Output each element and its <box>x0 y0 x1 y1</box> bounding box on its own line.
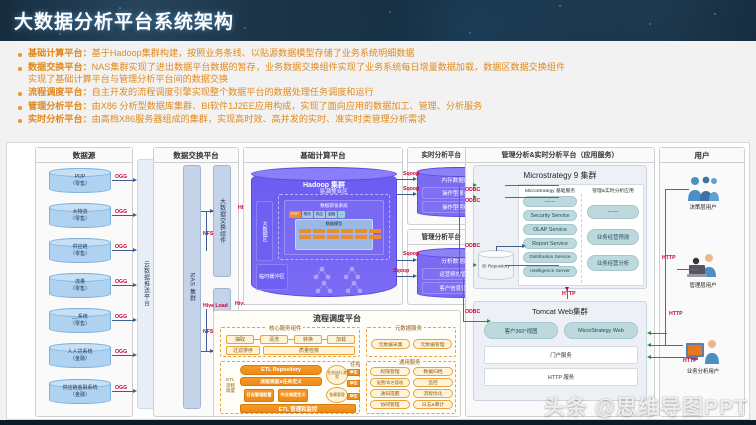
datasource-renrendai[interactable]: 人人贷系统（金融） <box>49 343 111 368</box>
tomcat-title: Tomcat Web集群 <box>474 306 646 317</box>
microstrategy-services-panel: MicroStrategy 基础服务 管理&实时分析应用 ------ Secu… <box>518 184 644 286</box>
label-hive-load: Hive Load <box>203 303 228 309</box>
etl-monitor[interactable]: ETL 管理和监控 <box>240 404 356 413</box>
tomcat-http-service[interactable]: HTTP 服务 <box>484 368 638 386</box>
nas-label: NAS 集群 <box>188 272 197 301</box>
user-label-analyst: 业务分析用户 <box>673 367 733 375</box>
nas-cluster[interactable]: NAS 集群 <box>183 165 201 409</box>
arrowhead <box>473 195 477 199</box>
core-load[interactable]: 加载 <box>327 335 355 344</box>
page-title: 大数据分析平台系统架构 <box>14 7 234 34</box>
watermark: 头条 @思维导图PPT <box>544 391 748 421</box>
label-http: HTTP <box>683 358 697 364</box>
cluster-node-icons <box>312 265 388 293</box>
list-item: 数据交换平台：NAS集群实现了进出数据平台数据的暂存，业务数据交换组件实现了业务… <box>18 61 746 85</box>
label-sqoop: Sqoop <box>393 268 409 274</box>
list-item: 流程调度平台：自主开发的流程调度引擎实现整个数据平台的数据处理任务调度和运行 <box>18 86 746 98</box>
label-ogg: OGG <box>115 314 127 320</box>
bullet-text: 基于Hadoop集群构建，按照业务条线、以贴源数据模型存储了业务系统明细数据 <box>92 48 415 58</box>
arrowhead <box>522 244 526 248</box>
connector-ogg <box>112 180 134 181</box>
connector-odbc <box>463 321 489 322</box>
bullet-dot-icon <box>18 53 22 57</box>
core-transform[interactable]: 转换 <box>294 335 322 344</box>
bullet-dot-icon <box>18 67 22 71</box>
model-node <box>313 229 325 233</box>
common-monitor[interactable]: 监控 <box>413 378 453 387</box>
connector <box>288 339 294 340</box>
panel-users-title: 用户 <box>660 148 744 163</box>
paste-zone-label: 贴源整合区 <box>279 187 389 195</box>
data-model-label: 数据模型 <box>296 221 372 227</box>
bullet-text: 由X86 分析型数据库集群、BI软件1J2EE应用构成，实现了面向应用的数据加工… <box>92 101 483 111</box>
model-node <box>341 229 353 233</box>
connector-odbc <box>505 185 559 186</box>
bigdata-exchange-label: 大数据交换组件 <box>218 198 227 244</box>
common-archive[interactable]: 数据归档 <box>413 367 453 376</box>
bullet-dot-icon <box>18 92 22 96</box>
datasource-supplychain[interactable]: 供应链（零售） <box>49 238 111 263</box>
core-quality-check[interactable]: 质量检核 <box>263 346 355 355</box>
arrowhead <box>413 177 417 181</box>
bullet-term: 数据交换平台： <box>28 62 92 72</box>
connector-nfs <box>206 309 207 351</box>
common-collaborate[interactable]: 协同管理 <box>370 400 410 409</box>
common-optimize[interactable]: 流程优化 <box>413 389 453 398</box>
model-node <box>327 229 339 233</box>
divider <box>581 194 582 283</box>
hadoop-cluster[interactable]: Hadoop 集群 大数据区 临时缓冲区 贴源整合区 数据研发系统 POP 物流… <box>251 167 397 297</box>
connector-ogg <box>112 391 134 392</box>
ms-app-blank[interactable]: ------ <box>587 205 639 219</box>
model-node <box>313 235 325 239</box>
tab-more[interactable]: ... <box>338 211 345 218</box>
research-system-box[interactable]: 数据研发系统 POP 物流 供应 金融 ... 数据模型 <box>284 200 384 255</box>
label-ogg: OGG <box>115 209 127 215</box>
ms-col2-title: 管理&实时分析应用 <box>582 185 644 194</box>
connector-odbc <box>459 185 460 275</box>
model-node-grid <box>299 229 381 239</box>
model-node <box>369 229 381 233</box>
etl-job-define[interactable]: 作业调度定义 <box>278 389 308 402</box>
bullet-term: 基础计算平台： <box>28 48 92 58</box>
label-http: HTTP <box>669 311 683 317</box>
ms-report-service[interactable]: Report Service <box>523 238 577 249</box>
bullet-text-continued: 实现了基础计算平台与管理分析平台间的数据交换 <box>28 73 565 85</box>
label-odbc: ODBC <box>465 187 480 193</box>
panel-exchange-title: 数据交换平台 <box>154 148 238 163</box>
zone-tabs[interactable]: POP 物流 供应 金融 ... <box>289 211 345 218</box>
bullet-term: 管理分析平台： <box>28 101 92 111</box>
label-ogg: OGG <box>115 385 127 391</box>
datasource-system[interactable]: __系统（零售） <box>49 308 111 333</box>
tab-logistics[interactable]: 物流 <box>302 211 313 218</box>
etl-task-flow[interactable]: 任务执行流程 <box>326 365 348 385</box>
connector-http <box>649 357 693 358</box>
task-item[interactable]: 单位 <box>347 380 360 387</box>
bullet-dot-icon <box>18 106 22 110</box>
connector <box>496 246 524 247</box>
label-ogg: OGG <box>115 279 127 285</box>
connector <box>322 339 327 340</box>
flow-scheduling-platform: 流程调度平台 核心服务组件 抽取 清洗 转换 加载 过滤排序 质量检核 元数据服… <box>213 310 461 417</box>
etl-side-label: ETL流程调度 <box>224 377 237 394</box>
tab-supply[interactable]: 供应 <box>314 211 325 218</box>
arrowhead <box>487 319 491 323</box>
microstrategy-cluster[interactable]: Microstrategy 9 集群 MicroStrategy 基础服务 管理… <box>473 165 647 289</box>
arrowhead <box>413 192 417 196</box>
panel-compute-title: 基础计算平台 <box>244 148 402 163</box>
core-clean[interactable]: 清洗 <box>260 335 288 344</box>
ms-distribution-service[interactable]: Distribution Service <box>523 252 577 263</box>
temp-buffer-zone[interactable]: 临时缓冲区 <box>256 264 288 290</box>
label-odbc: ODBC <box>465 309 480 315</box>
bullet-text: 自主开发的流程调度引擎实现整个数据平台的数据处理任务调度和运行 <box>92 87 374 97</box>
node-graph-icon <box>312 265 388 293</box>
panel-datasource-title: 数据源 <box>36 148 132 163</box>
bullet-list: 基础计算平台：基于Hadoop集群构建，按照业务条线、以贴源数据模型存储了业务系… <box>0 41 756 141</box>
datasource-pop[interactable]: POP（零售） <box>49 168 111 193</box>
bigdata-exchange-component[interactable]: 大数据交换组件 <box>213 165 231 277</box>
meta-services-title: 元数据服务 <box>393 324 424 332</box>
user-label-manager: 管理层用户 <box>673 281 733 289</box>
bullet-dot-icon <box>18 119 22 123</box>
label-nfs: NFS <box>203 329 213 335</box>
ms-app-analysis[interactable]: 业务经营分析 <box>587 255 639 271</box>
ms-intelligence-server[interactable]: Intelligence Server <box>523 266 577 277</box>
connector-http <box>649 345 683 346</box>
list-item: 管理分析平台：由X86 分析型数据库集群、BI软件1J2EE应用构成，实现了面向… <box>18 100 746 112</box>
tomcat-portal-service[interactable]: 门户服务 <box>484 346 638 364</box>
datasource-traffic[interactable]: 流量（零售） <box>49 273 111 298</box>
title-bar: 大数据分析平台系统架构 <box>0 0 756 41</box>
arrowhead <box>413 258 417 262</box>
common-services-title: 通用服务 <box>397 358 423 366</box>
datasource-logistics[interactable]: 大物流（零售） <box>49 203 111 228</box>
architecture-diagram: 数据源 POP（零售） 大物流（零售） 供应链（零售） 流量（零售） __系统（… <box>6 142 750 420</box>
connector-odbc <box>505 197 559 198</box>
bullet-term: 流程调度平台： <box>28 87 92 97</box>
bullet-term: 实时分析平台： <box>28 114 92 124</box>
connector-http <box>665 189 689 190</box>
arrowhead <box>473 183 477 187</box>
model-node <box>369 235 381 239</box>
arrowhead <box>647 331 651 335</box>
list-item: 基础计算平台：基于Hadoop集群构建，按照业务条线、以贴源数据模型存储了业务系… <box>18 47 746 59</box>
research-system-label: 数据研发系统 <box>285 203 383 209</box>
core-extract[interactable]: 抽取 <box>226 335 254 344</box>
user-label-decision: 决策层用户 <box>673 203 733 211</box>
model-node <box>299 235 311 239</box>
connector-ogg <box>112 355 134 356</box>
list-item: 实时分析平台：由高档X86服务器组成的集群，实现高时效、高并发的实时、准实时类管… <box>18 113 746 125</box>
model-node <box>355 229 367 233</box>
common-audit[interactable]: 日志&审计 <box>413 400 453 409</box>
connector-http <box>665 189 666 345</box>
person-laptop-icon <box>687 253 721 279</box>
label-ogg: OGG <box>115 349 127 355</box>
label-sqoop: Sqoop <box>403 251 419 257</box>
connector-odbc <box>505 265 559 266</box>
datasource-supplyfinance[interactable]: 供应链金融系统（金融） <box>49 379 111 404</box>
task-item[interactable]: 单位 <box>347 393 360 400</box>
common-permission[interactable]: 权限管理 <box>370 367 410 376</box>
connector <box>254 339 260 340</box>
label-http: HTTP <box>562 291 576 297</box>
connector-http <box>677 269 699 270</box>
paste-integration-zone[interactable]: 贴源整合区 数据研发系统 POP 物流 供应 金融 ... 数据模型 <box>278 194 390 260</box>
model-node <box>355 235 367 239</box>
arrowhead <box>210 209 214 213</box>
ms-app-forecast[interactable]: 业务经营预测 <box>587 229 639 245</box>
connector-ogg <box>112 250 134 251</box>
arrowhead <box>473 263 477 267</box>
people-icon <box>685 175 721 203</box>
ms-security-service[interactable]: Security Service <box>523 210 577 221</box>
label-ogg: OGG <box>115 244 127 250</box>
etl-repository[interactable]: ETL Repository <box>240 365 322 375</box>
label-ogg: OGG <box>115 174 127 180</box>
data-model-panel[interactable]: 数据模型 <box>295 219 373 250</box>
task-item[interactable]: 单位 <box>347 369 360 376</box>
bullet-text: 由高档X86服务器组成的集群，实现高时效、高并发的实时、准实时类管理分析需求 <box>92 114 426 124</box>
flow-title: 流程调度平台 <box>214 313 460 324</box>
label-odbc: ODBC <box>465 243 480 249</box>
connector <box>496 246 497 251</box>
avatar-analyst-user[interactable] <box>685 339 721 370</box>
microstrategy-title: Microstrategy 9 集群 <box>474 170 646 181</box>
tomcat-app-customer360[interactable]: 客户360°视图 <box>484 322 558 339</box>
model-node <box>327 235 339 239</box>
panel-app-title: 管理分析&实时分析平台（应用服务） <box>466 148 654 163</box>
connector-ogg <box>112 320 134 321</box>
bigdata-zone[interactable]: 大数据区 <box>256 201 273 261</box>
connector-odbc <box>463 279 464 321</box>
tab-finance[interactable]: 金融 <box>326 211 337 218</box>
etl-log-config[interactable]: 日志管理配置 <box>244 389 274 402</box>
core-filter-sort[interactable]: 过滤排序 <box>226 346 260 355</box>
model-node <box>341 235 353 239</box>
meta-manage[interactable]: 元数据管理 <box>413 339 452 349</box>
common-config[interactable]: 配置/命名管理 <box>370 378 410 387</box>
common-notify[interactable]: 通知提醒 <box>370 389 410 398</box>
tomcat-app-msweb[interactable]: MicroStrategy Web <box>564 322 638 339</box>
connector-http <box>649 333 667 334</box>
arrowhead <box>413 274 417 278</box>
cloud-push-label: 云数据推送平台 <box>142 261 151 307</box>
arrowhead <box>565 287 569 291</box>
meta-collect[interactable]: 元数据采集 <box>371 339 410 349</box>
tab-pop[interactable]: POP <box>289 211 301 218</box>
connector-ogg <box>112 285 134 286</box>
connector-ogg <box>112 215 134 216</box>
bullet-text: NAS集群实现了进出数据平台数据的暂存，业务数据交换组件实现了业务系统每日增量数… <box>92 62 565 72</box>
task-title: 任务 <box>350 361 360 368</box>
tomcat-web-cluster[interactable]: Tomcat Web集群 客户360°视图 MicroStrategy Web … <box>473 301 647 401</box>
label-nfs: NFS <box>203 231 213 237</box>
connector-nfs <box>206 211 207 251</box>
core-services-title: 核心服务组件 <box>267 324 303 332</box>
arrowhead <box>647 355 651 359</box>
etl-dependency[interactable]: 依赖管理 <box>326 387 348 403</box>
etl-scheduling[interactable]: 流程调度&任务定义 <box>240 377 322 386</box>
ms-col1-title: MicroStrategy 基础服务 <box>519 185 581 194</box>
model-node <box>299 229 311 233</box>
arrowhead <box>647 343 651 347</box>
ms-olap-service[interactable]: OLAP Service <box>523 224 577 235</box>
